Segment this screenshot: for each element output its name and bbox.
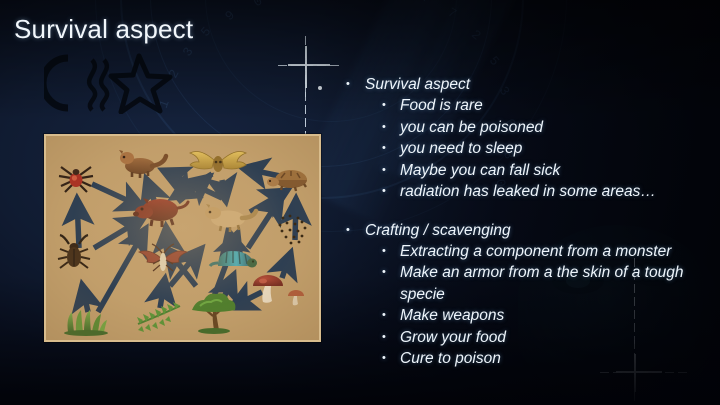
- creature-beetle: [58, 235, 90, 268]
- bullet-glyph: •: [382, 241, 400, 257]
- content-bullets: • Survival aspect • Food is rare • you c…: [344, 74, 714, 370]
- bullet-text: Food is rare: [400, 95, 714, 117]
- list-item: • Make an armor from a the skin of a tou…: [382, 262, 714, 305]
- creature-grub: [210, 251, 257, 268]
- bullet-glyph: •: [382, 117, 400, 133]
- list-item: • you can be poisoned: [382, 117, 714, 139]
- creature-bat: [190, 152, 246, 172]
- list-item: • you need to sleep: [382, 138, 714, 160]
- bullet-text: you can be poisoned: [400, 117, 714, 139]
- plant-mushroom-small: [288, 290, 304, 305]
- bullet-text: Survival aspect: [365, 74, 714, 95]
- list-item: • Maybe you can fall sick: [382, 160, 714, 182]
- bullet-glyph: •: [382, 181, 400, 197]
- food-web-arrows: [77, 168, 296, 312]
- bullet-glyph: •: [346, 74, 365, 90]
- bullet-glyph: •: [346, 220, 365, 236]
- creature-weasel: [119, 150, 166, 178]
- list-item: • Extracting a component from a monster: [382, 241, 714, 263]
- list-item: • Grow your food: [382, 327, 714, 349]
- food-web-graphic: .arw { stroke:#16304f; stroke-width:5.5;…: [46, 136, 319, 340]
- bullet-text: radiation has leaked in some areas…: [400, 181, 714, 203]
- bullet-group-spacer: [344, 203, 714, 220]
- list-item: • radiation has leaked in some areas…: [382, 181, 714, 203]
- bullet-text: Cure to poison: [400, 348, 714, 370]
- bullet-glyph: •: [382, 95, 400, 111]
- presentation-slide: 2 3 5 9 0 3 5 8 1 4 7 2 5 3 6 8 0 1: [0, 0, 720, 405]
- bullet-text: Extracting a component from a monster: [400, 241, 714, 263]
- bullet-glyph: •: [382, 160, 400, 176]
- bullet-text: Maybe you can fall sick: [400, 160, 714, 182]
- creature-ferret: [205, 204, 256, 232]
- bullet-glyph: •: [382, 305, 400, 321]
- bullet-glyph: •: [382, 327, 400, 343]
- bullet-group-1-heading: • Survival aspect: [346, 74, 714, 95]
- bullet-glyph: •: [382, 138, 400, 154]
- list-item: • Food is rare: [382, 95, 714, 117]
- plant-tree: [192, 293, 235, 334]
- plant-grass: [64, 310, 108, 336]
- bullet-glyph: •: [382, 348, 400, 364]
- bullet-group-2-heading: • Crafting / scavenging: [346, 220, 714, 241]
- bullet-text: Grow your food: [400, 327, 714, 349]
- bullet-text: Crafting / scavenging: [365, 220, 714, 241]
- bullet-text: you need to sleep: [400, 138, 714, 160]
- plant-mushroom-large: [253, 275, 283, 303]
- list-item: • Cure to poison: [382, 348, 714, 370]
- creature-spider: [59, 167, 93, 192]
- page-title: Survival aspect: [14, 14, 193, 45]
- bullet-text: Make weapons: [400, 305, 714, 327]
- bullet-text: Make an armor from a the skin of a tough…: [400, 262, 714, 305]
- bullet-glyph: •: [382, 262, 400, 278]
- list-item: • Make weapons: [382, 305, 714, 327]
- food-web-image: .arw { stroke:#16304f; stroke-width:5.5;…: [44, 134, 321, 342]
